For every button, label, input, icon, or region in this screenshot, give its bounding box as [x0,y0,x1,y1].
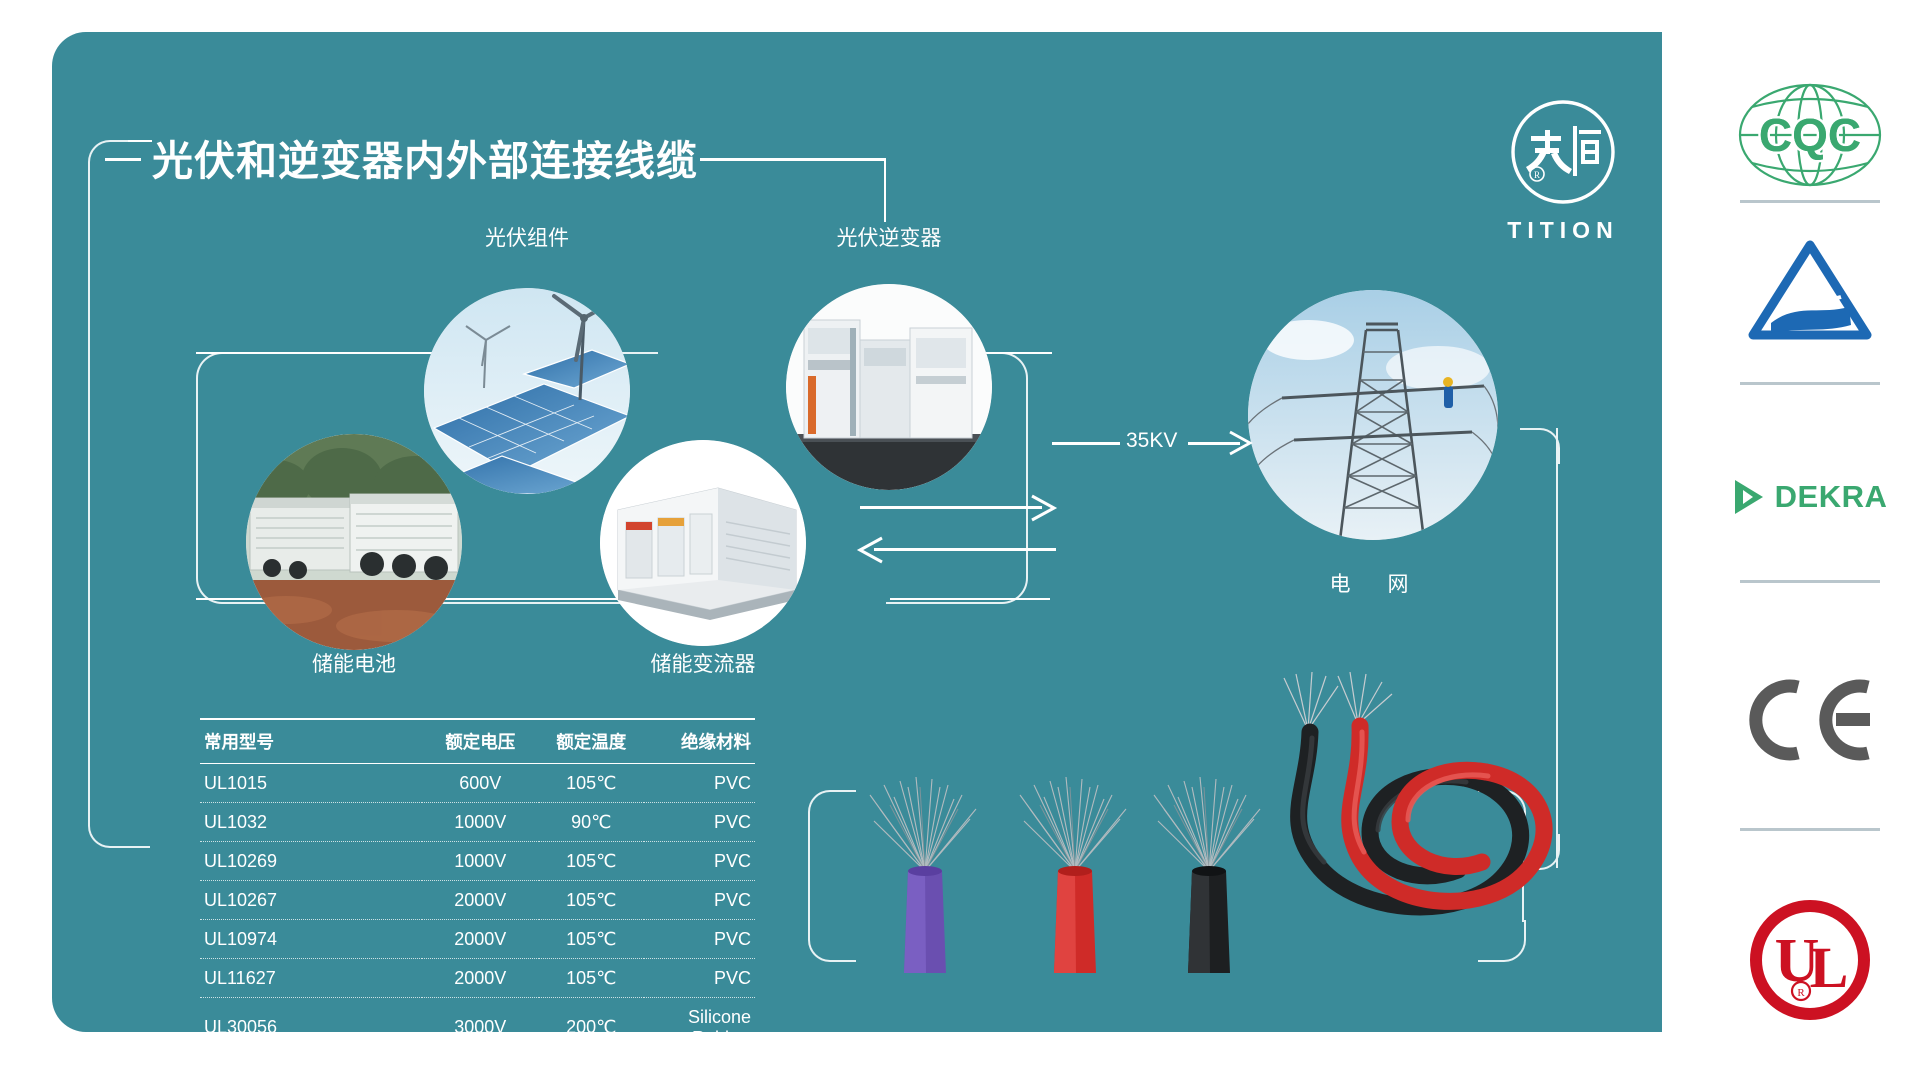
title-rule-right [700,158,885,161]
table-cell: 105℃ [539,842,644,881]
cert-ul: U L R [1700,890,1920,1030]
triangle-wave-icon [1745,237,1875,347]
kv-label: 35KV [1126,429,1177,453]
table-cell: 600V [422,764,539,803]
brand-name: TITION [1488,217,1638,244]
cert-divider-4 [1740,828,1880,831]
table-row: UL102672000V105℃PVC [200,881,755,920]
table-cell: UL10974 [200,920,422,959]
table-cell: UL30056 [200,998,422,1059]
th-material: 绝缘材料 [644,719,755,764]
table-row: UL300563000V200℃Silicone Rubber [200,998,755,1059]
cert-divider-3 [1740,580,1880,583]
arrow-left-shaft [874,548,1056,551]
table-row: UL109742000V105℃PVC [200,920,755,959]
kv-line-left [1052,442,1120,445]
arrow-left-head [856,534,886,566]
table-row: UL116272000V105℃PVC [200,959,755,998]
table-cell: PVC [644,920,755,959]
table-cell: 90℃ [539,803,644,842]
photo-battery [246,434,462,650]
cert-divider-2 [1740,382,1880,385]
table-cell: PVC [644,803,755,842]
table-header-row: 常用型号 额定电压 额定温度 绝缘材料 [200,719,755,764]
table-cell: 105℃ [539,920,644,959]
cert-ce [1700,660,1920,780]
cable-bracket-left [808,828,810,922]
table-cell: UL11627 [200,959,422,998]
node-label-pv-module: 光伏组件 [424,222,630,252]
outer-bracket-top-corner [88,140,130,182]
table-cell: 1000V [422,842,539,881]
outer-bracket-bottom-corner [88,800,150,848]
node-label-pcs: 储能变流器 [600,648,806,678]
photo-grid [1248,290,1498,540]
svg-text:R: R [1797,987,1805,999]
kv-arrow-head [1226,428,1254,458]
cable-bracket-tl [808,790,856,832]
th-model: 常用型号 [200,719,422,764]
connector-inverter-out-top [980,352,1052,354]
table-cell: PVC [644,842,755,881]
table-cell: 3000V [422,998,539,1059]
poster-canvas: 光伏和逆变器内外部连接线缆 [0,0,1920,1080]
tition-seal-icon: R [1507,96,1619,208]
table-cell: 200℃ [539,998,644,1059]
ce-mark-icon [1740,675,1880,765]
table-cell: 2000V [422,920,539,959]
table-row: UL102691000V105℃PVC [200,842,755,881]
photo-pv-inverter [786,284,992,490]
table-cell: 2000V [422,959,539,998]
cert-divider-1 [1740,200,1880,203]
arrow-right-head [1028,492,1058,524]
photo-cable-bundle-red [1000,775,1150,975]
cqc-globe-icon: CQC CQC [1730,75,1890,195]
connector-title-stub [128,140,152,142]
table-cell: 2000V [422,881,539,920]
table-cell: 105℃ [539,764,644,803]
svg-text:R: R [1534,170,1540,180]
connector-title-to-inverter [860,158,886,160]
outer-bracket-vertical [88,178,90,803]
photo-coiled-cable [1250,672,1580,972]
table-cell: 105℃ [539,959,644,998]
node-label-grid: 电 网 [1248,568,1498,598]
table-row: UL10321000V90℃PVC [200,803,755,842]
node-label-pv-inverter: 光伏逆变器 [786,222,992,252]
ul-mark-icon: U L R [1745,895,1875,1025]
table-cell: UL10267 [200,881,422,920]
table-cell: UL1015 [200,764,422,803]
dekra-wordmark: DEKRA [1775,479,1888,515]
photo-pv-module [424,288,630,494]
svg-text:L: L [1810,935,1849,1000]
cert-dekra: DEKRA [1700,452,1920,542]
table-cell: PVC [644,881,755,920]
node-label-battery: 储能电池 [246,648,462,678]
photo-pcs [600,440,806,646]
cert-tuv [1700,232,1920,352]
svg-text:CQC: CQC [1759,109,1861,161]
table-cell: PVC [644,764,755,803]
table-cell: 105℃ [539,881,644,920]
arrow-right-shaft [860,506,1042,509]
table-row: UL1015600V105℃PVC [200,764,755,803]
table-cell: Silicone Rubber [644,998,755,1059]
certification-rail: CQC CQC DEKRA [1700,0,1920,1080]
grid-bracket-top-corner [1520,428,1560,464]
photo-cable-bundle-purple [850,775,1000,975]
table-cell: PVC [644,959,755,998]
cable-bracket-bl [808,920,856,962]
table-cell: UL10269 [200,842,422,881]
dekra-chevron-icon [1733,478,1767,516]
table-cell: UL1032 [200,803,422,842]
th-voltage: 额定电压 [422,719,539,764]
page-title: 光伏和逆变器内外部连接线缆 [152,127,698,187]
cert-cqc: CQC CQC [1700,70,1920,200]
th-temp: 额定温度 [539,719,644,764]
connector-inverter-out-bottom [890,598,1050,600]
table-cell: 1000V [422,803,539,842]
spec-table: 常用型号 额定电压 额定温度 绝缘材料 UL1015600V105℃PVCUL1… [200,718,755,1059]
connector-inverter-stub [884,160,886,222]
brand-logo: R TITION [1488,96,1638,244]
